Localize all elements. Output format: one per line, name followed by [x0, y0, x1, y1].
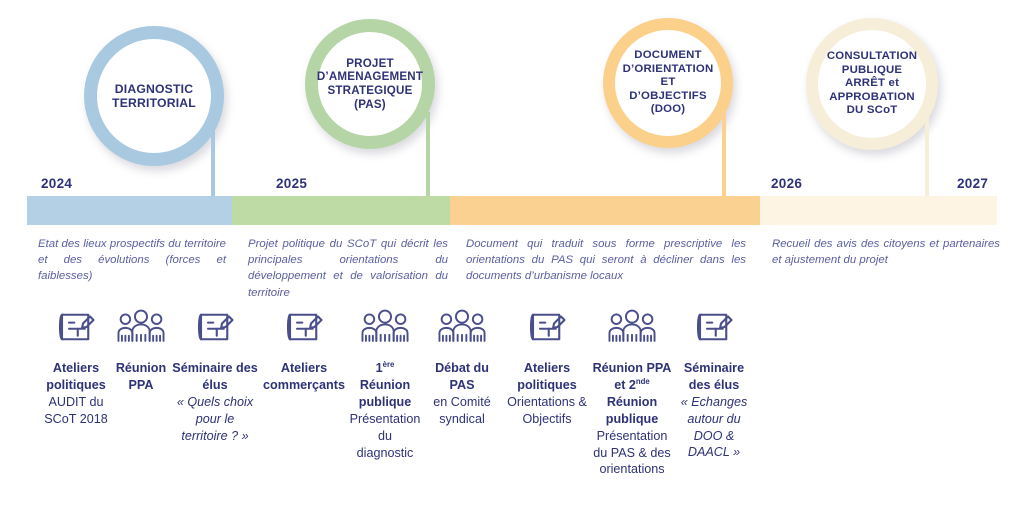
- timeline-infographic: DIAGNOSTIC TERRITORIAL PROJET D’AMENAGEM…: [0, 0, 1024, 525]
- phase-circle-label-pas: PROJET D’AMENAGEMENT STRATEGIQUE (PAS): [307, 57, 433, 112]
- action-title: Débat du PAS: [422, 360, 502, 394]
- phase-circle-pas: PROJET D’AMENAGEMENT STRATEGIQUE (PAS): [305, 19, 435, 149]
- year-label-2027: 2027: [957, 176, 988, 191]
- connector-diagnostic: [211, 120, 215, 198]
- action-subtitle: en Comité syndical: [422, 394, 502, 428]
- action-subtitle: « Quels choix pour le territoire ? »: [172, 394, 258, 445]
- phase-description-consultation: Recueil des avis des citoyens et partena…: [772, 236, 1000, 268]
- action-subtitle: Orientations & Objectifs: [504, 394, 590, 428]
- action-title-superscript: nde: [636, 377, 650, 386]
- action-item: Ateliers politiques Orientations & Objec…: [504, 306, 590, 428]
- phase-description-diagnostic: Etat des lieux prospectifs du territoire…: [38, 236, 226, 285]
- action-title: Séminaire des élus: [172, 360, 258, 394]
- people-group-icon: [110, 306, 172, 352]
- phase-circle-label-doo: DOCUMENT D’ORIENTATION ET D’OBJECTIFS (D…: [613, 49, 724, 116]
- timeline-bar: [27, 196, 997, 225]
- phase-circle-label-diagnostic: DIAGNOSTIC TERRITORIAL: [102, 82, 206, 111]
- action-item: Séminaire des élus « Echanges autour du …: [672, 306, 756, 461]
- action-title: Ateliers politiques: [34, 360, 118, 394]
- action-title: 1èreRéunion publique: [348, 360, 422, 411]
- action-title: Réunion PPA: [110, 360, 172, 394]
- blueprint-pencil-icon: [672, 306, 756, 352]
- action-subtitle: « Echanges autour du DOO & DAACL »: [672, 394, 756, 462]
- blueprint-pencil-icon: [34, 306, 118, 352]
- connector-consultation: [925, 110, 929, 198]
- year-label-2024: 2024: [41, 176, 72, 191]
- phase-circle-consultation: CONSULTATION PUBLIQUE ARRÊT et APPROBATI…: [806, 18, 938, 150]
- action-item: Débat du PAS en Comité syndical: [422, 306, 502, 428]
- action-subtitle: Présentation du diagnostic: [348, 411, 422, 462]
- blueprint-pencil-icon: [258, 306, 350, 352]
- timeline-segment-diagnostic: [27, 196, 232, 225]
- action-item: Réunion PPA: [110, 306, 172, 394]
- year-label-2025: 2025: [276, 176, 307, 191]
- action-title-superscript: ère: [383, 360, 395, 369]
- action-item: Ateliers commerçants: [258, 306, 350, 394]
- timeline-segment-doo: [450, 196, 760, 225]
- phase-description-pas: Projet politique du SCoT qui décrit les …: [248, 236, 448, 301]
- timeline-segment-consultation: [760, 196, 997, 225]
- year-label-2026: 2026: [771, 176, 802, 191]
- phase-description-doo: Document qui traduit sous forme prescrip…: [466, 236, 746, 285]
- action-title: Séminaire des élus: [672, 360, 756, 394]
- action-item: Réunion PPA et 2ndeRéunion publique Prés…: [588, 306, 676, 478]
- action-title-main: Réunion publique: [606, 395, 658, 426]
- action-subtitle: AUDIT du SCoT 2018: [34, 394, 118, 428]
- people-group-icon: [588, 306, 676, 352]
- action-item: Séminaire des élus « Quels choix pour le…: [172, 306, 258, 444]
- action-item: 1èreRéunion publique Présentation du dia…: [348, 306, 422, 461]
- connector-pas: [426, 112, 430, 198]
- people-group-icon: [348, 306, 422, 352]
- blueprint-pencil-icon: [172, 306, 258, 352]
- blueprint-pencil-icon: [504, 306, 590, 352]
- action-title-main: Réunion publique: [359, 378, 411, 409]
- timeline-segment-pas: [232, 196, 450, 225]
- phase-circle-diagnostic: DIAGNOSTIC TERRITORIAL: [84, 26, 224, 166]
- phase-circle-label-consultation: CONSULTATION PUBLIQUE ARRÊT et APPROBATI…: [817, 50, 927, 117]
- action-title: Ateliers politiques: [504, 360, 590, 394]
- action-subtitle: Présentation du PAS & des orientations: [588, 428, 676, 479]
- action-title: Ateliers commerçants: [258, 360, 350, 394]
- action-title: Réunion PPA et 2ndeRéunion publique: [588, 360, 676, 428]
- people-group-icon: [422, 306, 502, 352]
- action-item: Ateliers politiques AUDIT du SCoT 2018: [34, 306, 118, 428]
- action-title-prefix: Réunion PPA et 2: [593, 361, 672, 392]
- phase-circle-doo: DOCUMENT D’ORIENTATION ET D’OBJECTIFS (D…: [603, 18, 733, 148]
- connector-doo: [722, 110, 726, 198]
- action-title-prefix: 1: [376, 361, 383, 375]
